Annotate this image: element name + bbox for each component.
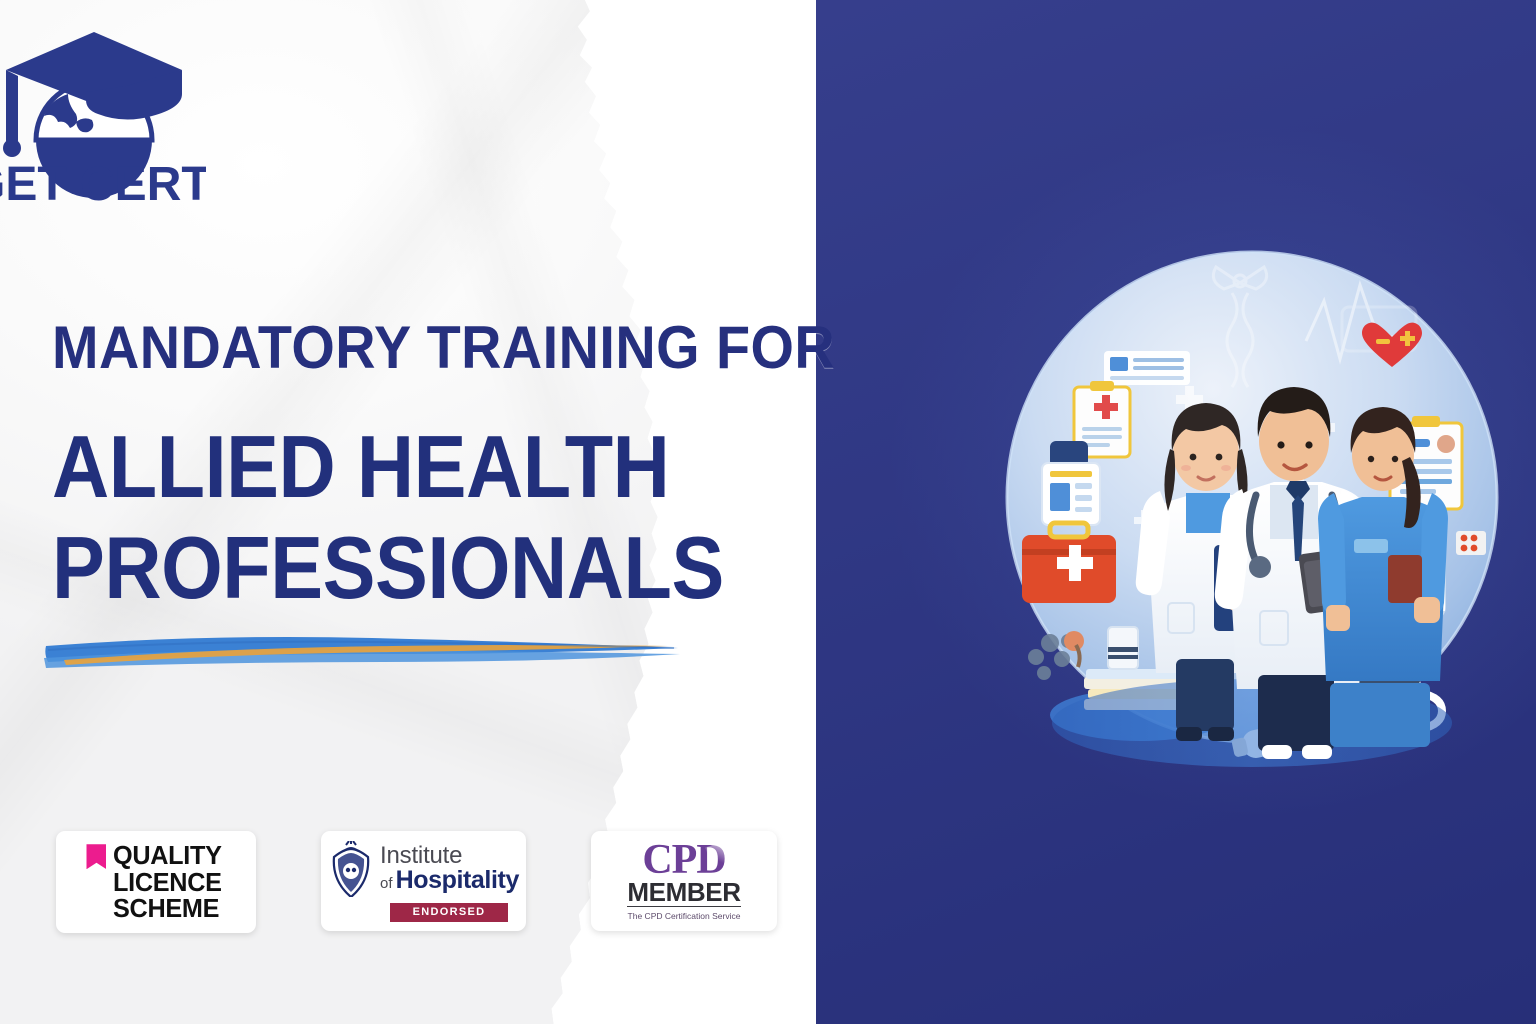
get-certify-logo[interactable]: GET CERTIFY <box>0 24 206 234</box>
marketing-banner: GET CERTIFY MANDATORY TRAINING FOR ALLIE… <box>0 0 1536 1024</box>
qls-line-3: SCHEME <box>113 893 219 923</box>
cpd-subtitle: The CPD Certification Service <box>628 911 741 921</box>
ioh-of-text: of <box>380 876 393 891</box>
heraldic-crest-icon <box>328 841 374 897</box>
allied-health-professionals-illustration <box>990 245 1515 785</box>
brush-underline <box>42 628 682 674</box>
ioh-endorsed-text: ENDORSED <box>413 906 486 918</box>
badge-quality-licence-scheme[interactable]: QUALITY LICENCE SCHEME <box>56 831 256 933</box>
accreditation-badges: QUALITY LICENCE SCHEME <box>56 831 777 933</box>
headline-line-1: ALLIED HEALTH <box>52 418 754 517</box>
qls-line-2: LICENCE <box>113 867 222 897</box>
headline-kicker: MANDATORY TRAINING FOR <box>52 318 777 378</box>
headline-block: MANDATORY TRAINING FOR ALLIED HEALTH PRO… <box>52 318 832 617</box>
ioh-institute-text: Institute <box>380 842 462 869</box>
ribbon-bookmark-icon <box>86 844 106 869</box>
headline-line-2: PROFESSIONALS <box>52 519 754 618</box>
badge-cpd-member[interactable]: CPD MEMBER The CPD Certification Service <box>591 831 777 931</box>
ioh-endorsed-banner: ENDORSED <box>390 903 508 922</box>
badge-institute-of-hospitality[interactable]: Institute of Hospitality ENDORSED <box>321 831 526 931</box>
qls-line-1: QUALITY <box>113 840 222 870</box>
ioh-hospitality-text: Hospitality <box>396 868 519 893</box>
cpd-wordmark: CPD <box>642 841 725 880</box>
cpd-member-text: MEMBER <box>627 879 740 907</box>
logo-wordmark: GET CERTIFY <box>0 158 206 211</box>
